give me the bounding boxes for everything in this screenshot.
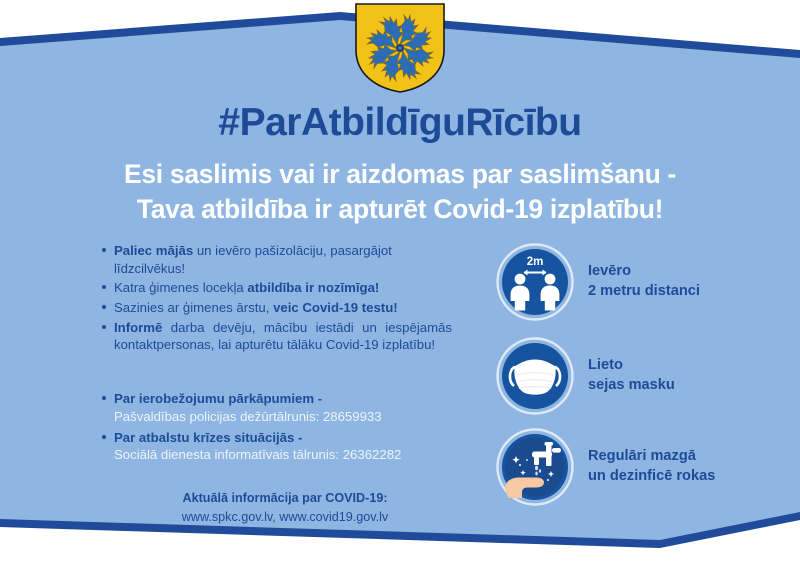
icon-row-wash-hands: Regulāri mazgā un dezinficē rokas (496, 428, 715, 506)
bullet-bold-lead: Paliec mājās (114, 243, 193, 258)
face-mask-icon (496, 337, 574, 415)
contact-row: Par atbalstu krīzes situācijās - Sociālā… (100, 429, 460, 465)
icon-label-line-2: sejas masku (588, 376, 675, 396)
icon-label-line-1: Lieto (588, 356, 675, 376)
list-item: Informē darba devēju, mācību iestādi un … (100, 319, 452, 354)
bullet-text: Sazinies ar ģimenes ārstu, (114, 300, 273, 315)
bullet-bold-tail: veic Covid-19 testu! (273, 300, 398, 315)
subtitle: Esi saslimis vai ir aizdomas par saslimš… (0, 157, 800, 227)
subtitle-line-1: Esi saslimis vai ir aizdomas par saslimš… (0, 157, 800, 192)
icon-label-line-2: 2 metru distanci (588, 282, 700, 302)
list-item: Katra ģimenes locekļa atbildība ir nozīm… (100, 279, 452, 297)
advice-list-container: Paliec mājās un ievēro pašizolāciju, pas… (100, 242, 452, 356)
page-title: #ParAtbildīguRīcību (0, 103, 800, 144)
bullet-text: Katra ģimenes locekļa (114, 280, 247, 295)
hand-washing-icon (496, 428, 574, 506)
distance-value: 2m (527, 256, 544, 268)
footer-links: www.spkc.gov.lv, www.covid19.gov.lv (0, 508, 570, 527)
footer-heading: Aktuālā informācija par COVID-19: (0, 489, 570, 508)
social-distance-icon: 2m (496, 243, 574, 321)
contact-heading: Par ierobežojumu pārkāpumiem - (114, 390, 460, 408)
icon-row-label: Ievēro 2 metru distanci (588, 262, 700, 301)
covid-information-poster: #ParAtbildīguRīcību Esi saslimis vai ir … (0, 0, 800, 565)
contact-detail: Pašvaldības policijas dežūrtālrunis: 286… (114, 408, 460, 426)
bullet-text: darba devēju, mācību iestādi un iespējam… (114, 320, 452, 353)
bullet-bold-lead: Informē (114, 320, 162, 335)
icon-label-line-1: Ievēro (588, 262, 700, 282)
contact-numbers: Par ierobežojumu pārkāpumiem - Pašvaldīb… (100, 390, 460, 467)
mask-body (514, 360, 555, 395)
contact-heading: Par atbalstu krīzes situācijās - (114, 429, 460, 447)
contact-row: Par ierobežojumu pārkāpumiem - Pašvaldīb… (100, 390, 460, 426)
list-item: Paliec mājās un ievēro pašizolāciju, pas… (100, 242, 452, 277)
icon-row-mask: Lieto sejas masku (496, 337, 675, 415)
icon-label-line-2: un dezinficē rokas (588, 467, 715, 487)
icon-label-line-1: Regulāri mazgā (588, 447, 715, 467)
footer: Aktuālā informācija par COVID-19: www.sp… (0, 489, 570, 527)
icon-row-label: Regulāri mazgā un dezinficē rokas (588, 447, 715, 486)
contact-detail: Sociālā dienesta informatīvais tālrunis:… (114, 446, 460, 464)
icon-row-label: Lieto sejas masku (588, 356, 675, 395)
bullet-bold-tail: atbildība ir nozīmīga! (247, 280, 379, 295)
list-item: Sazinies ar ģimenes ārstu, veic Covid-19… (100, 299, 452, 317)
icon-row-distance: 2m Ievēro 2 metru distanci (496, 243, 700, 321)
advice-list: Paliec mājās un ievēro pašizolāciju, pas… (100, 242, 452, 354)
subtitle-line-2: Tava atbildība ir apturēt Covid-19 izpla… (0, 192, 800, 227)
